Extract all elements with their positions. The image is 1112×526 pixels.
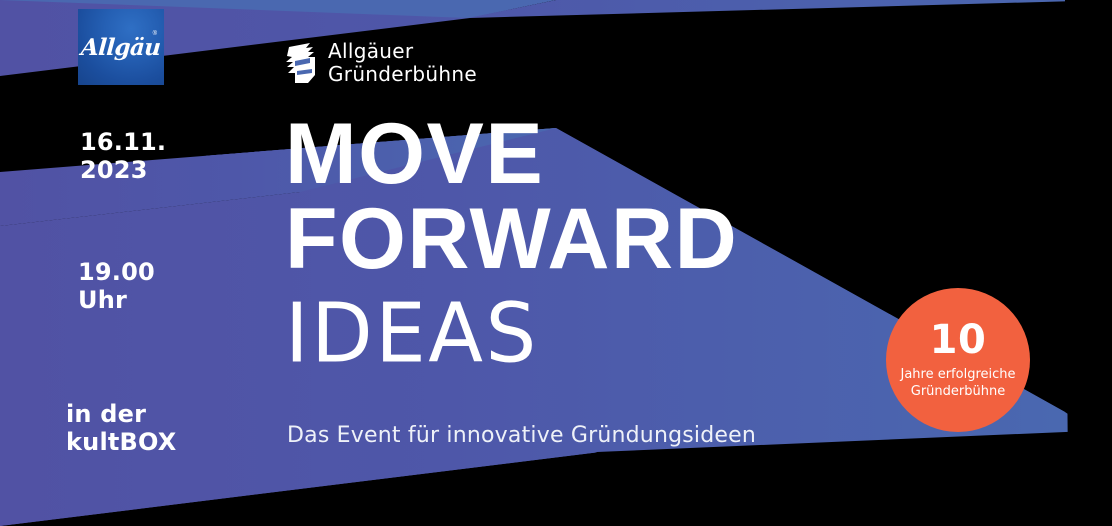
anniversary-badge: 10 Jahre erfolgreiche Gründerbühne	[886, 288, 1030, 432]
event-venue-line-2: kultBOX	[66, 428, 177, 456]
anniversary-number: 10	[930, 320, 987, 360]
page-title: MOVE FORWARD IDEAS	[285, 112, 738, 381]
gruenderbuehne-logo[interactable]: Allgäuer Gründerbühne	[286, 40, 477, 86]
gruenderbuehne-mark-icon	[286, 42, 316, 86]
headline-line-1: MOVE	[285, 112, 738, 197]
anniversary-caption: Jahre erfolgreiche Gründerbühne	[900, 367, 1015, 400]
anniversary-caption-line-2: Gründerbühne	[900, 384, 1015, 401]
event-date: 16.11. 2023	[80, 128, 166, 184]
anniversary-caption-line-1: Jahre erfolgreiche	[900, 367, 1015, 384]
gruenderbuehne-line-2: Gründerbühne	[328, 63, 477, 86]
subtitle: Das Event für innovative Gründungsideen	[287, 423, 756, 448]
event-venue-line-1: in der	[66, 400, 177, 428]
gruenderbuehne-line-1: Allgäuer	[328, 40, 477, 63]
event-time-line-1: 19.00	[78, 258, 155, 286]
event-time: 19.00 Uhr	[78, 258, 155, 314]
event-date-line-2: 2023	[80, 156, 166, 184]
event-time-line-2: Uhr	[78, 286, 155, 314]
allgau-wordmark: Allgäu	[78, 9, 164, 85]
allgau-logo[interactable]: Allgäu ®	[78, 9, 164, 85]
headline-line-2: FORWARD	[285, 197, 738, 282]
headline-line-3: IDEAS	[285, 286, 738, 382]
event-venue: in der kultBOX	[66, 400, 177, 456]
registered-trademark-icon: ®	[153, 31, 157, 37]
event-banner: Allgäu ® Allgäuer Gründerbühne 16.11. 20…	[0, 0, 1112, 526]
event-date-line-1: 16.11.	[80, 128, 166, 156]
allgau-wordmark-text: Allgäu	[80, 34, 161, 61]
gruenderbuehne-wordmark: Allgäuer Gründerbühne	[328, 40, 477, 86]
